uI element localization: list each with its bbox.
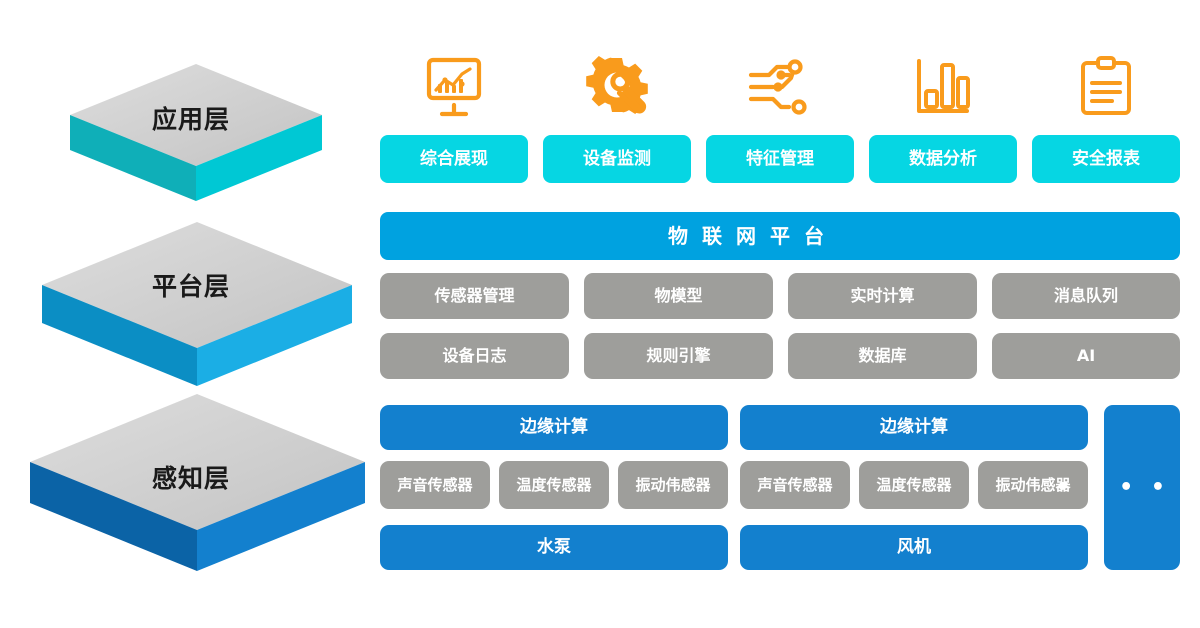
edge-computing-bar-pump[interactable]: 边缘计算 <box>380 405 728 450</box>
sensor-fan-温度传感器[interactable]: 温度传感器 <box>859 461 969 509</box>
app-button-安全报表[interactable]: 安全报表 <box>1032 135 1180 183</box>
platform-module-设备日志[interactable]: 设备日志 <box>380 333 569 379</box>
sensor-pump-声音传感器[interactable]: 声音传感器 <box>380 461 490 509</box>
clipboard-report-icon <box>1033 48 1179 126</box>
app-button-数据分析[interactable]: 数据分析 <box>869 135 1017 183</box>
platform-module-实时计算[interactable]: 实时计算 <box>788 273 977 319</box>
sensor-fan-声音传感器[interactable]: 声音传感器 <box>740 461 850 509</box>
app-button-综合展现[interactable]: 综合展现 <box>380 135 528 183</box>
slab-label-application-layer: 应用层 <box>152 100 230 136</box>
bar-chart-icon <box>870 48 1016 126</box>
platform-module-物模型[interactable]: 物模型 <box>584 273 773 319</box>
device-bar-水泵[interactable]: 水泵 <box>380 525 728 570</box>
edge-computing-bar-fan[interactable]: 边缘计算 <box>740 405 1088 450</box>
platform-module-消息队列[interactable]: 消息队列 <box>992 273 1180 319</box>
slab-label-perception-layer: 感知层 <box>152 459 230 495</box>
monitor-chart-icon <box>381 48 527 126</box>
layer-stack-illustration: 应用层 平台层 感知层 <box>0 0 400 628</box>
platform-module-ai[interactable]: AI <box>992 333 1180 379</box>
more-groups-ellipsis[interactable]: • • • • • • <box>1104 405 1180 570</box>
platform-module-传感器管理[interactable]: 传感器管理 <box>380 273 569 319</box>
platform-title-text: 物联网平台 <box>668 226 838 246</box>
sensor-pump-温度传感器[interactable]: 温度传感器 <box>499 461 609 509</box>
app-button-设备监测[interactable]: 设备监测 <box>543 135 691 183</box>
platform-module-规则引擎[interactable]: 规则引擎 <box>584 333 773 379</box>
device-bar-风机[interactable]: 风机 <box>740 525 1088 570</box>
slab-label-platform-layer: 平台层 <box>152 267 230 303</box>
circuit-nodes-icon <box>707 48 853 126</box>
sensor-pump-振动伟感器[interactable]: 振动伟感器 <box>618 461 728 509</box>
platform-module-数据库[interactable]: 数据库 <box>788 333 977 379</box>
platform-title-bar: 物联网平台 <box>380 212 1180 260</box>
gear-wrench-icon <box>544 48 690 126</box>
slab-platform-layer <box>42 222 352 386</box>
app-button-特征管理[interactable]: 特征管理 <box>706 135 854 183</box>
